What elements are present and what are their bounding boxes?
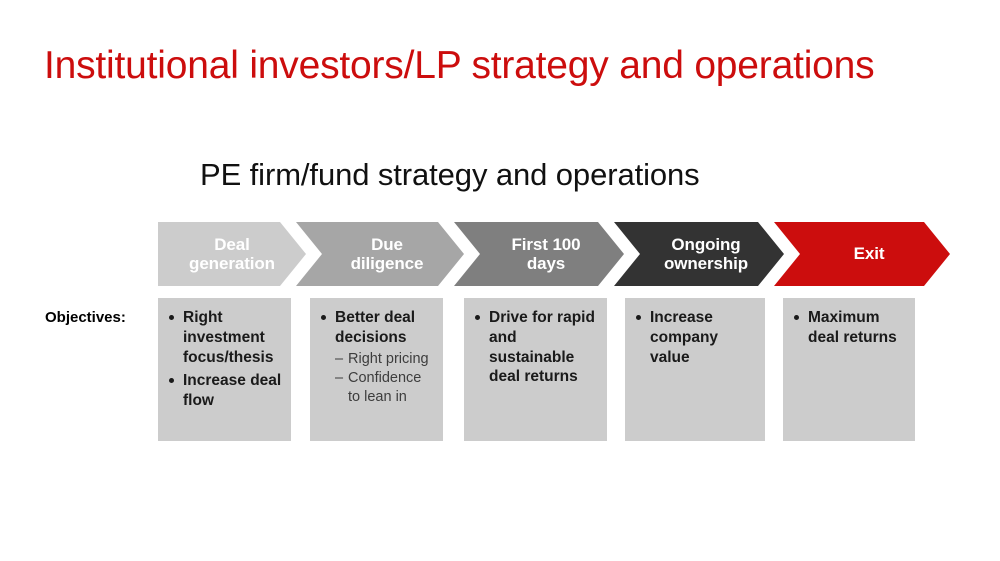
objective-item-text: Better deal decisions bbox=[335, 309, 415, 346]
bullet-dot-icon bbox=[794, 315, 799, 320]
objective-sub-list: –Right pricing–Confidence to lean in bbox=[335, 350, 435, 407]
process-stage-label: Ongoing ownership bbox=[650, 235, 748, 273]
objectives-box-3: Drive for rapid and sustainable deal ret… bbox=[464, 298, 607, 441]
bullet-dot-icon bbox=[475, 315, 480, 320]
objectives-box-2: Better deal decisions–Right pricing–Conf… bbox=[310, 298, 443, 441]
objectives-list: Drive for rapid and sustainable deal ret… bbox=[474, 308, 599, 387]
objectives-list: Better deal decisions–Right pricing–Conf… bbox=[320, 308, 435, 406]
process-stage-1[interactable]: Deal generation bbox=[158, 222, 306, 286]
slide-subtitle: PE firm/fund strategy and operations bbox=[200, 157, 700, 193]
objective-item-text: Increase company value bbox=[650, 309, 718, 366]
dash-bullet-icon: – bbox=[335, 369, 343, 388]
objective-item-text: Right investment focus/thesis bbox=[183, 309, 273, 366]
objective-item: Maximum deal returns bbox=[793, 308, 907, 348]
objectives-box-4: Increase company value bbox=[625, 298, 765, 441]
objective-sub-item-text: Confidence to lean in bbox=[348, 370, 421, 405]
process-chevron-row: Deal generationDue diligenceFirst 100 da… bbox=[0, 218, 1000, 288]
objectives-box-1: Right investment focus/thesisIncrease de… bbox=[158, 298, 291, 441]
objective-item: Better deal decisions–Right pricing–Conf… bbox=[320, 308, 435, 406]
process-stage-label: First 100 days bbox=[497, 235, 580, 273]
dash-bullet-icon: – bbox=[335, 350, 343, 369]
objective-sub-item: –Right pricing bbox=[335, 350, 435, 369]
process-stage-label: Exit bbox=[840, 244, 885, 263]
objective-item-text: Increase deal flow bbox=[183, 372, 281, 409]
objective-item: Drive for rapid and sustainable deal ret… bbox=[474, 308, 599, 387]
objective-item: Increase deal flow bbox=[168, 371, 283, 411]
bullet-dot-icon bbox=[321, 315, 326, 320]
process-stage-label: Due diligence bbox=[337, 235, 424, 273]
objectives-boxes-row: Right investment focus/thesisIncrease de… bbox=[0, 298, 1000, 442]
objectives-box-5: Maximum deal returns bbox=[783, 298, 915, 441]
objective-item-text: Drive for rapid and sustainable deal ret… bbox=[489, 309, 595, 385]
bullet-dot-icon bbox=[636, 315, 641, 320]
objectives-list: Maximum deal returns bbox=[793, 308, 907, 348]
objectives-list: Increase company value bbox=[635, 308, 757, 367]
process-stage-4[interactable]: Ongoing ownership bbox=[614, 222, 784, 286]
objectives-list: Right investment focus/thesisIncrease de… bbox=[168, 308, 283, 411]
process-stage-2[interactable]: Due diligence bbox=[296, 222, 464, 286]
process-stage-5[interactable]: Exit bbox=[774, 222, 950, 286]
page-title: Institutional investors/LP strategy and … bbox=[44, 44, 974, 89]
bullet-dot-icon bbox=[169, 315, 174, 320]
objective-item: Increase company value bbox=[635, 308, 757, 367]
process-stage-label: Deal generation bbox=[189, 235, 275, 273]
objective-sub-item: –Confidence to lean in bbox=[335, 369, 435, 406]
bullet-dot-icon bbox=[169, 378, 174, 383]
objective-item: Right investment focus/thesis bbox=[168, 308, 283, 367]
objective-sub-item-text: Right pricing bbox=[348, 351, 429, 367]
objective-item-text: Maximum deal returns bbox=[808, 309, 897, 346]
process-stage-3[interactable]: First 100 days bbox=[454, 222, 624, 286]
